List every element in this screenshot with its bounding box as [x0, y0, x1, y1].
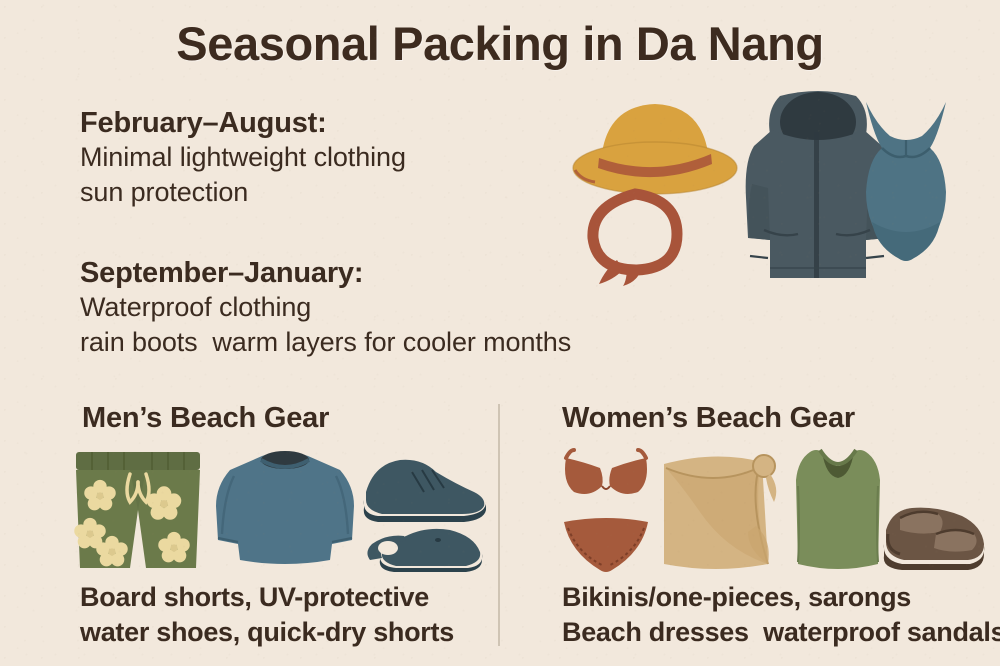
vertical-divider — [498, 404, 500, 646]
season-heading: September–January: — [80, 256, 571, 290]
infographic-poster: Seasonal Packing in Da Nang February–Aug… — [0, 0, 1000, 666]
water-shoes-icon — [352, 448, 492, 574]
sun-hat-icon — [571, 92, 739, 200]
mens-beach-gear-heading: Men’s Beach Gear — [82, 402, 329, 435]
mens-gear-caption: Board shorts, UV-protective water shoes,… — [80, 580, 454, 650]
waterproof-sandals-icon — [878, 500, 988, 576]
caption-line: Board shorts, UV-protective — [80, 580, 454, 615]
one-piece-swimsuit-icon — [852, 96, 960, 268]
bandana-icon — [583, 186, 687, 286]
caption-line: water shoes, quick-dry shorts — [80, 615, 454, 650]
rash-guard-icon — [212, 448, 358, 570]
caption-line: Bikinis/one-pieces, sarongs — [562, 580, 1000, 615]
sarong-icon — [656, 446, 780, 574]
womens-beach-gear-heading: Women’s Beach Gear — [562, 402, 855, 435]
bikini-icon — [556, 448, 656, 574]
tank-top-icon — [786, 446, 890, 574]
season-line: Minimal lightweight clothing — [80, 140, 406, 175]
page-title: Seasonal Packing in Da Nang — [0, 16, 1000, 71]
season-heading: February–August: — [80, 106, 406, 140]
caption-line: Beach dresses waterproof sandals — [562, 615, 1000, 650]
season-line: Waterproof clothing — [80, 290, 571, 325]
season-line: rain boots warm layers for cooler months — [80, 325, 571, 360]
season-block-february-august: February–August: Minimal lightweight clo… — [80, 106, 406, 209]
board-shorts-icon — [68, 448, 208, 574]
season-block-september-january: September–January: Waterproof clothing r… — [80, 256, 571, 359]
womens-gear-caption: Bikinis/one-pieces, sarongs Beach dresse… — [562, 580, 1000, 650]
season-line: sun protection — [80, 175, 406, 210]
